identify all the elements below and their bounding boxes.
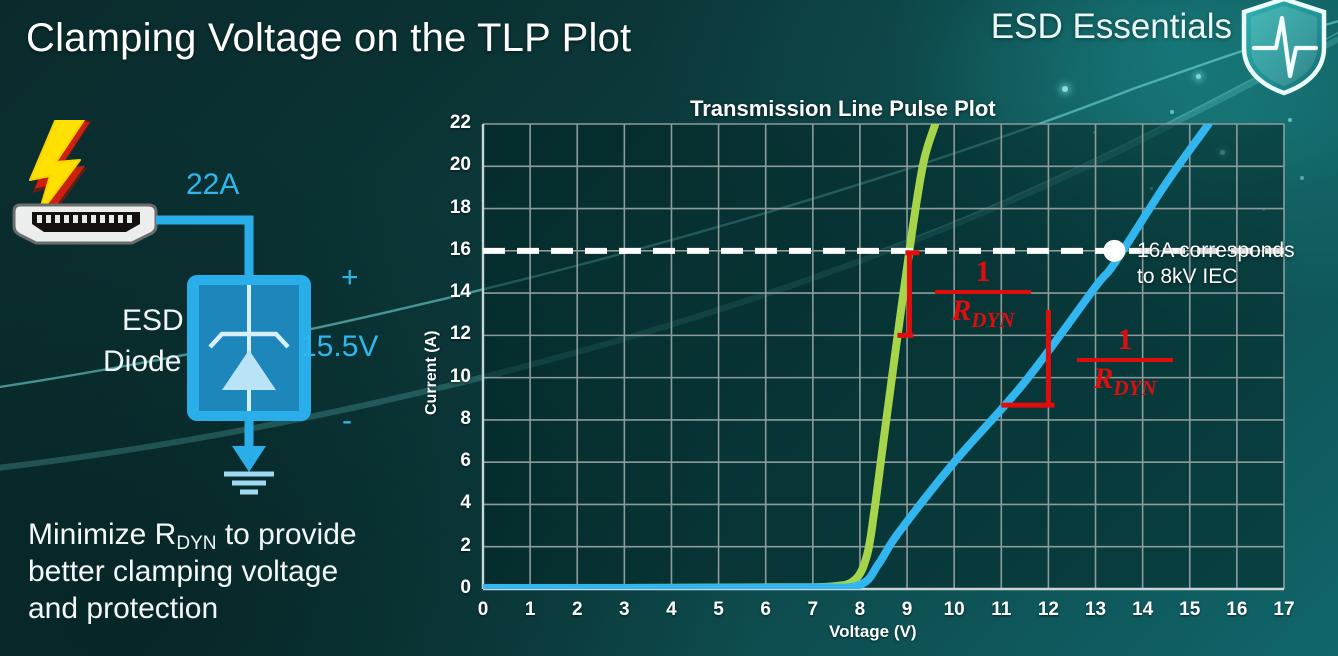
- slope-annotation-green: 1 RDYN: [935, 257, 1031, 331]
- slope-denominator-main: R: [1093, 362, 1113, 395]
- slope-denominator-main: R: [951, 294, 971, 327]
- slope-denominator-sub: DYN: [1113, 376, 1156, 400]
- slope-annotation-blue: 1 RDYN: [1077, 325, 1173, 399]
- slope-denominator: RDYN: [1077, 363, 1173, 399]
- slide-canvas: Clamping Voltage on the TLP Plot ESD Ess…: [0, 0, 1338, 656]
- tlp-chart: Transmission Line Pulse Plot Current (A)…: [0, 0, 1338, 656]
- marker-callout: 16A corresponds to 8kV IEC: [1137, 238, 1295, 289]
- callout-line2: to 8kV IEC: [1137, 264, 1295, 290]
- fraction-bar: [935, 290, 1031, 294]
- slope-numerator: 1: [1077, 325, 1173, 355]
- callout-line1: 16A corresponds: [1137, 238, 1295, 264]
- slope-denominator-sub: DYN: [971, 308, 1014, 332]
- white-dot-marker: [1103, 240, 1125, 262]
- fraction-bar: [1077, 358, 1173, 362]
- slope-denominator: RDYN: [935, 295, 1031, 331]
- slope-numerator: 1: [935, 257, 1031, 287]
